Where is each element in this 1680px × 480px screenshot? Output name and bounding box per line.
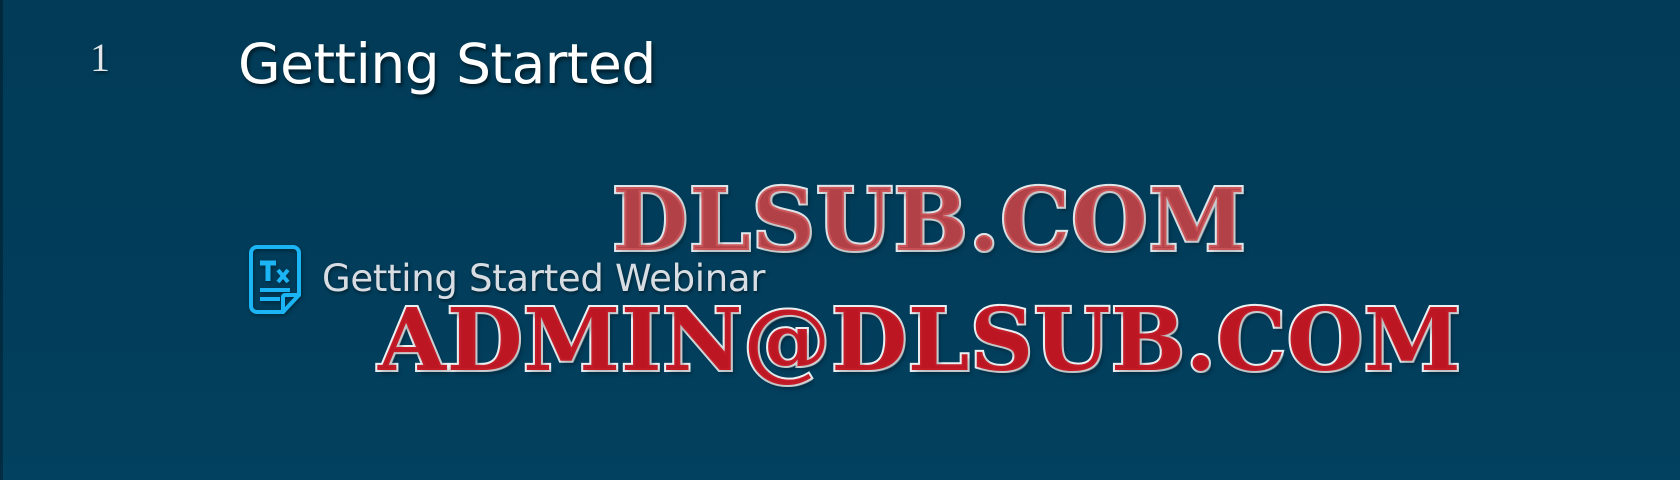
list-item[interactable]: Getting Started Webinar	[246, 245, 765, 317]
list-item-label: Getting Started Webinar	[322, 260, 765, 303]
slide-canvas: 1 Getting Started Getting Started Webina…	[0, 0, 1680, 480]
prescription-document-icon	[246, 245, 304, 317]
section-index: 1	[70, 38, 130, 78]
page-title: Getting Started	[238, 36, 656, 94]
